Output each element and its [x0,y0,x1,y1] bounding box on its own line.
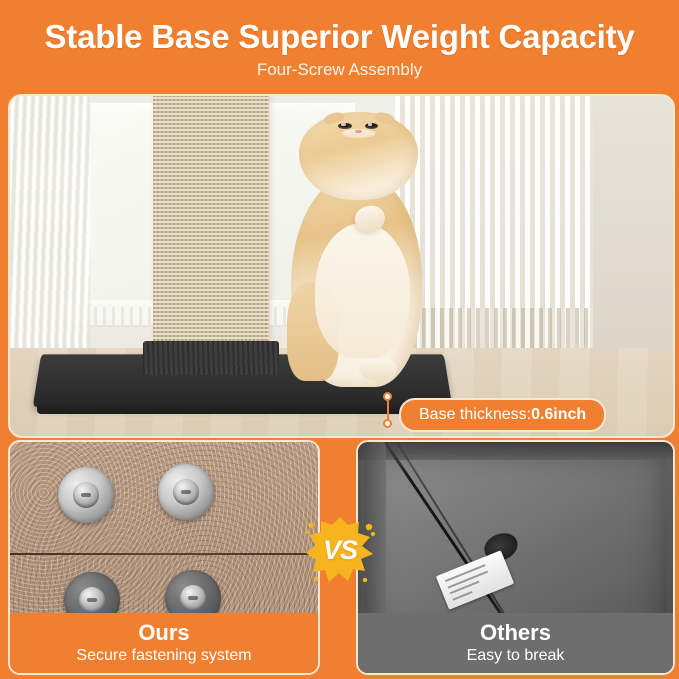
comparison-panel-others: Others Easy to break [356,440,675,675]
hero-photo [8,94,675,438]
wall-right [593,96,673,361]
product-infographic: Stable Base Superior Weight Capacity Fou… [0,0,679,679]
caption-subtitle-ours: Secure fastening system [76,647,251,665]
cat-paw-down [359,358,397,381]
vs-label: VS [303,513,377,587]
comparison-panel-ours: Ours Secure fastening system [8,440,320,675]
cat-nose [355,130,362,133]
header: Stable Base Superior Weight Capacity Fou… [0,0,679,88]
screw-top-right [158,464,214,520]
caption-title-others: Others [480,621,551,644]
page-subtitle: Four-Screw Assembly [0,60,679,80]
page-title: Stable Base Superior Weight Capacity [0,18,679,56]
sisal-post [153,94,269,365]
cat [255,106,454,398]
thickness-label: Base thickness: [419,406,531,424]
cat-chest [315,223,410,357]
caption-ours: Ours Secure fastening system [10,613,318,673]
vs-badge: VS [303,513,377,587]
caliper-dot-top [383,392,392,401]
thickness-value: 0.6inch [531,406,586,424]
caption-subtitle-others: Easy to break [467,647,565,665]
hero-scene [10,96,673,436]
cat-head [299,112,418,200]
caption-title-ours: Ours [138,621,189,644]
screw-top-left [58,467,114,523]
thickness-caliper-icon [381,392,395,428]
curtain-left [8,96,90,354]
base-thickness-badge: Base thickness: 0.6inch [399,398,606,432]
cat-eye-right [365,123,379,129]
cat-eye-left [338,123,352,129]
caption-others: Others Easy to break [358,613,673,673]
cat-ear-right [374,111,396,126]
caliper-dot-bottom [383,419,392,428]
board-seam [10,553,318,555]
